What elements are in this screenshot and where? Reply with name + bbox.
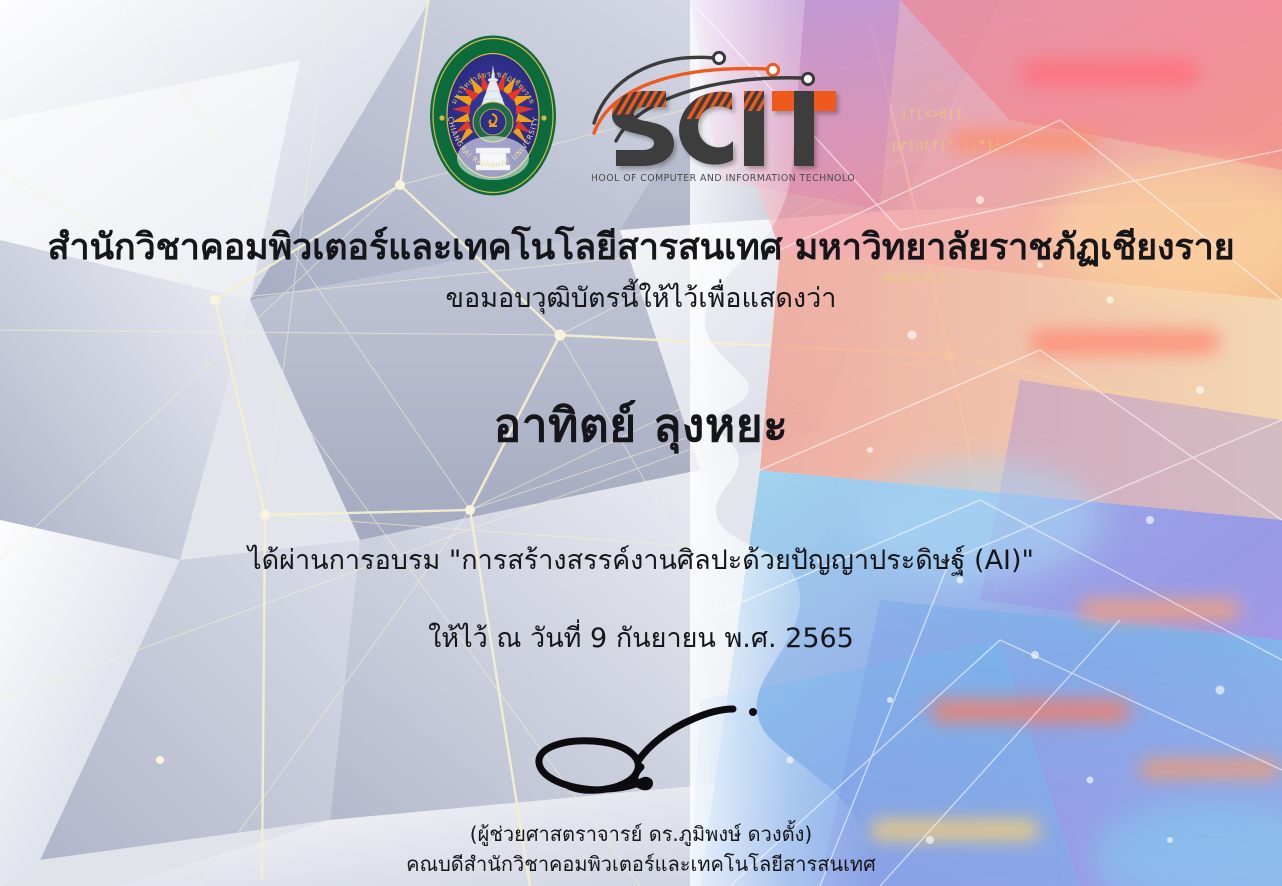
- signer-role: คณบดีสำนักวิชาคอมพิวเตอร์และเทคโนโลยีสาร…: [0, 848, 1282, 880]
- recipient-name: อาทิตย์ ลุงหยะ: [0, 389, 1282, 462]
- university-seal: มหาวิทยาลัยราชภัฏเชียงราย CHIANGRAI RAJA…: [428, 34, 558, 197]
- course-line: ได้ผ่านการอบรม "การสร้างสรรค์งานศิลปะด้ว…: [0, 538, 1282, 581]
- handwritten-signature: [497, 697, 797, 812]
- award-statement: ขอมอบวุฒิบัตรนี้ให้ไว้เพื่อแสดงว่า: [0, 283, 1282, 314]
- signer-name: (ผู้ช่วยศาสตราจารย์ ดร.ภูมิพงษ์ ดวงตั้ง): [0, 818, 1282, 850]
- date-line: ให้ไว้ ณ วันที่ 9 กันยายน พ.ศ. 2565: [0, 616, 1282, 659]
- scit-logo: SCHOOL OF COMPUTER AND INFORMATION TECHN…: [592, 45, 854, 187]
- certificate-page: printf("..."); module(); if(x>0){: [0, 0, 1282, 886]
- logo-row: มหาวิทยาลัยราชภัฏเชียงราย CHIANGRAI RAJA…: [0, 28, 1282, 203]
- scit-tagline: SCHOOL OF COMPUTER AND INFORMATION TECHN…: [592, 173, 854, 184]
- org-title: สำนักวิชาคอมพิวเตอร์และเทคโนโลยีสารสนเทศ…: [0, 228, 1282, 268]
